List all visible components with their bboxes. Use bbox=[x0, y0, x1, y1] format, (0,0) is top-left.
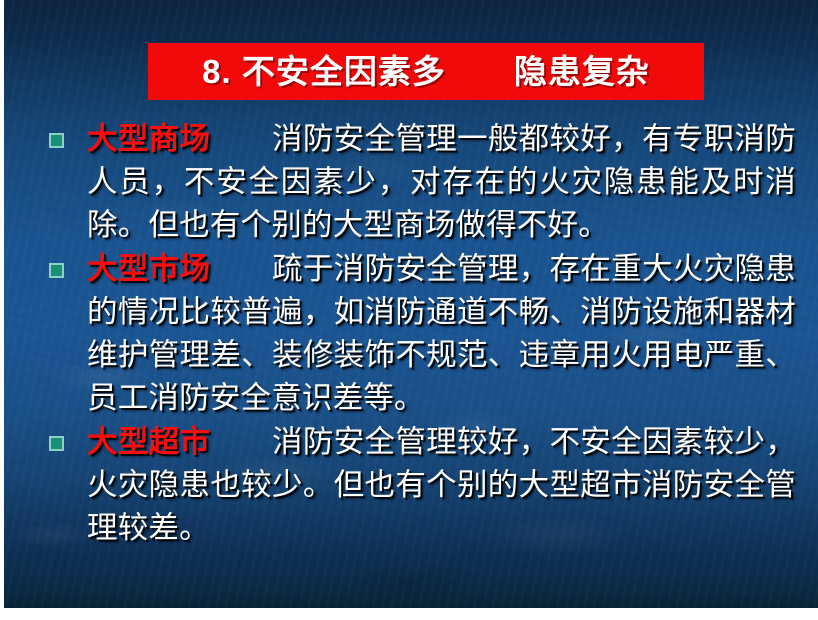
slide-title-banner: 8. 不安全因素多 隐患复杂 bbox=[148, 43, 704, 100]
paragraph-3-text: 大型超市 消防安全管理较好，不安全因素较少，火灾隐患也较少。但也有个别的大型超市… bbox=[87, 421, 796, 550]
paragraph-2-lead: 大型市场 bbox=[87, 252, 210, 287]
paragraph-1-text: 大型商场 消防安全管理一般都较好，有专职消防人员，不安全因素少，对存在的火灾隐患… bbox=[87, 118, 796, 247]
slide-body: 大型商场 消防安全管理一般都较好，有专职消防人员，不安全因素少，对存在的火灾隐患… bbox=[4, 118, 818, 550]
paragraph-2-text: 大型市场 疏于消防安全管理，存在重大火灾隐患的情况比较普遍，如消防通道不畅、消防… bbox=[87, 248, 796, 420]
bullet-paragraph-3: 大型超市 消防安全管理较好，不安全因素较少，火灾隐患也较少。但也有个别的大型超市… bbox=[4, 421, 818, 550]
presentation-slide: 8. 不安全因素多 隐患复杂 大型商场 消防安全管理一般都较好，有专职消防人员，… bbox=[4, 0, 818, 608]
paragraph-1-gap bbox=[210, 122, 272, 157]
bullet-paragraph-1: 大型商场 消防安全管理一般都较好，有专职消防人员，不安全因素少，对存在的火灾隐患… bbox=[4, 118, 818, 247]
bullet-paragraph-2: 大型市场 疏于消防安全管理，存在重大火灾隐患的情况比较普遍，如消防通道不畅、消防… bbox=[4, 248, 818, 420]
square-bullet-icon bbox=[49, 263, 64, 278]
square-bullet-icon bbox=[49, 133, 64, 148]
slide-title-text: 8. 不安全因素多 隐患复杂 bbox=[202, 55, 650, 88]
paragraph-3-lead: 大型超市 bbox=[87, 425, 210, 460]
paragraph-2-gap bbox=[210, 252, 272, 287]
square-bullet-icon bbox=[49, 436, 64, 451]
paragraph-1-lead: 大型商场 bbox=[87, 122, 210, 157]
paragraph-3-gap bbox=[210, 425, 272, 460]
